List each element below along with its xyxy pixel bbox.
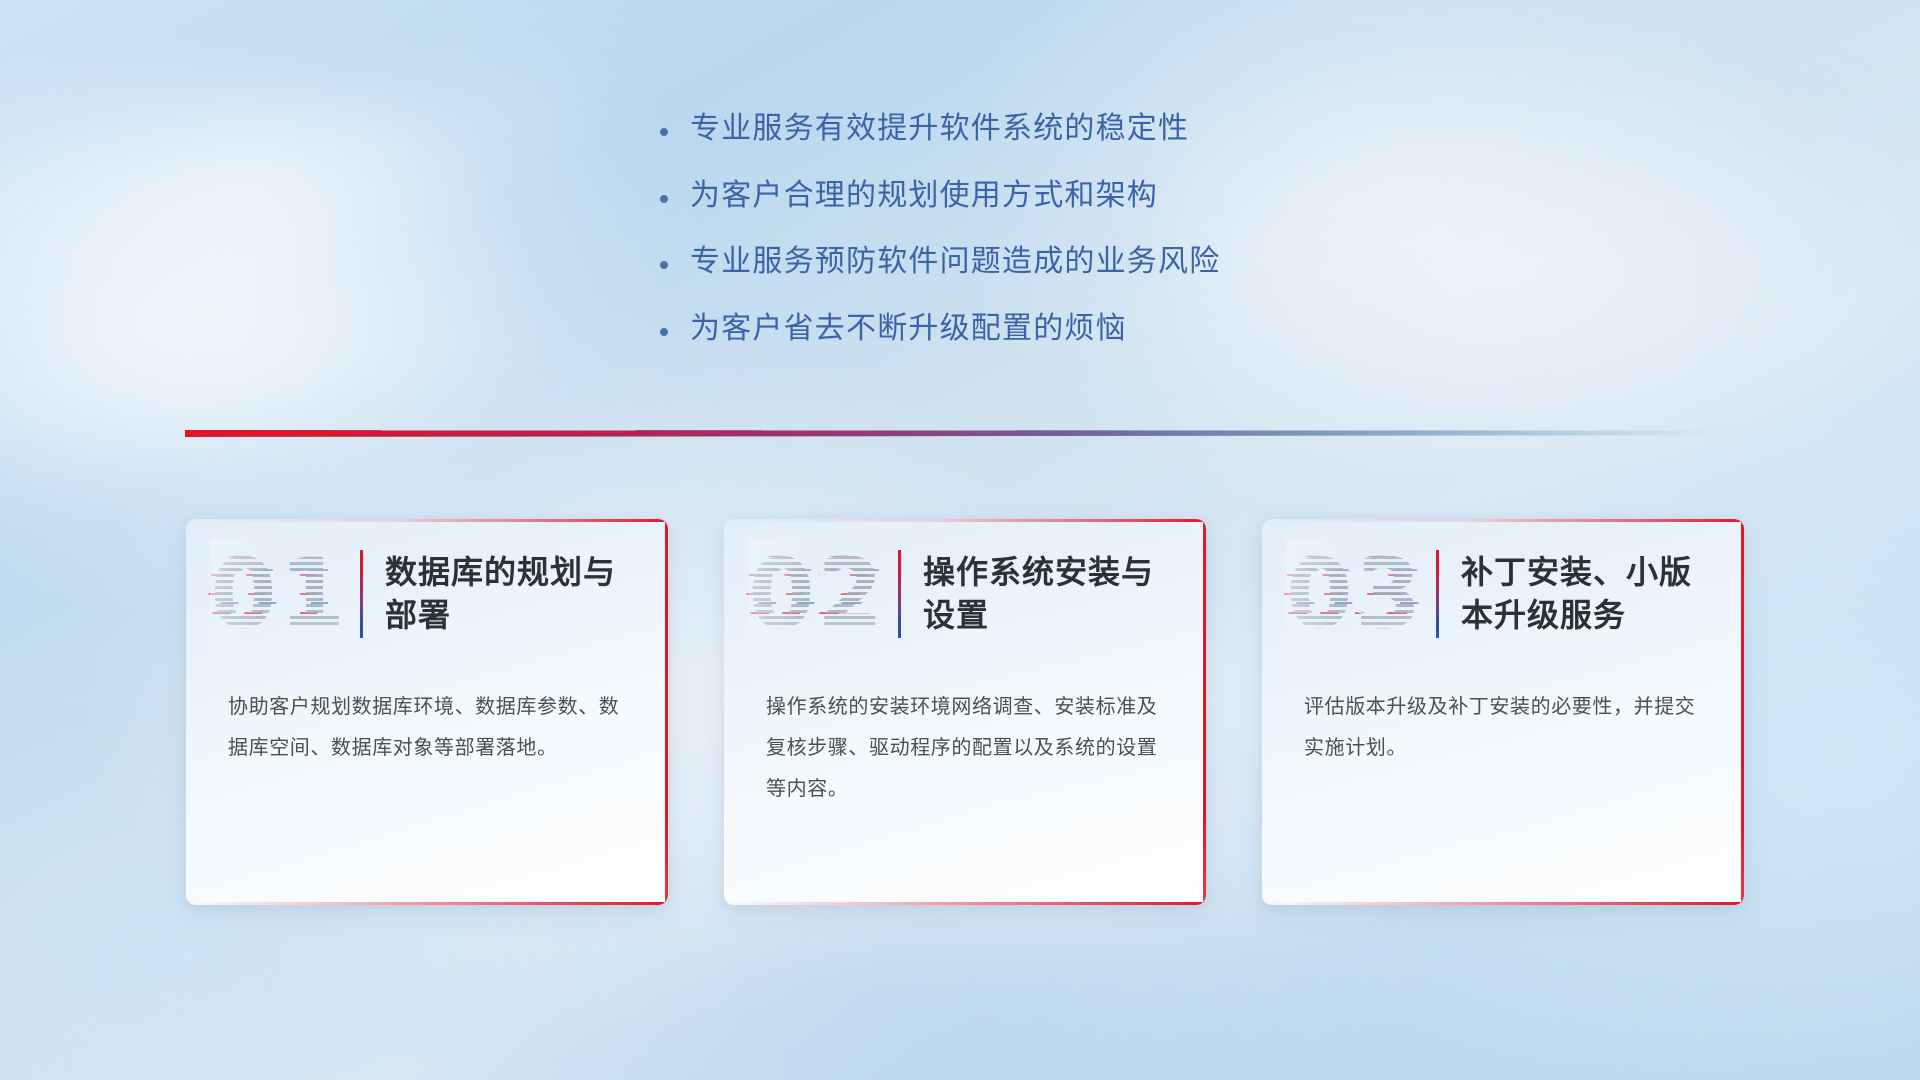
- card-title: 操作系统安装与设置: [923, 551, 1180, 637]
- bullet-item-text: 专业服务预防软件问题造成的业务风险: [690, 243, 1220, 281]
- card-bottom-accent: [1262, 902, 1744, 905]
- benefits-bullet-list: 专业服务有效提升软件系统的稳定性 为客户合理的规划使用方式和架构 专业服务预防软…: [660, 110, 1480, 376]
- card-title: 补丁安装、小版本升级服务: [1461, 551, 1718, 637]
- card-title-accent-bar: [360, 550, 363, 638]
- card-body-text: 操作系统的安装环境网络调查、安装标准及复核步骤、驱动程序的配置以及系统的设置等内…: [724, 669, 1206, 810]
- card-number-glitch: 03 03 03: [1286, 538, 1426, 650]
- slide-canvas: 专业服务有效提升软件系统的稳定性 为客户合理的规划使用方式和架构 专业服务预防软…: [0, 0, 1920, 1080]
- card-title-accent-bar: [1436, 550, 1439, 638]
- bullet-dot-icon: [660, 181, 690, 203]
- divider-gradient-line: [185, 430, 1785, 437]
- service-card-list: 01 01 01 数据库的规划与部署 协助客户规划数据库环境、数据库参数、数据库…: [186, 519, 1746, 905]
- card-header: 02 02 02 操作系统安装与设置: [724, 519, 1206, 669]
- section-divider: [185, 424, 1785, 444]
- card-number-text: 01: [210, 538, 350, 650]
- card-body-text: 评估版本升级及补丁安装的必要性，并提交实施计划。: [1262, 669, 1744, 769]
- service-card[interactable]: 03 03 03 补丁安装、小版本升级服务 评估版本升级及补丁安装的必要性，并提…: [1262, 519, 1744, 905]
- bullet-item-text: 为客户省去不断升级配置的烦恼: [690, 310, 1127, 348]
- card-bottom-accent: [186, 902, 668, 905]
- bullet-dot-icon: [660, 247, 690, 269]
- card-number-glitch: 01 01 01: [210, 538, 350, 650]
- bullet-item: 为客户合理的规划使用方式和架构: [660, 177, 1480, 215]
- bullet-item-text: 专业服务有效提升软件系统的稳定性: [690, 110, 1189, 148]
- bullet-dot-icon: [660, 114, 690, 136]
- bullet-item-text: 为客户合理的规划使用方式和架构: [690, 177, 1158, 215]
- card-header: 01 01 01 数据库的规划与部署: [186, 519, 668, 669]
- bullet-item: 专业服务有效提升软件系统的稳定性: [660, 110, 1480, 148]
- card-number-glitch: 02 02 02: [748, 538, 888, 650]
- card-title: 数据库的规划与部署: [385, 551, 642, 637]
- bullet-item: 为客户省去不断升级配置的烦恼: [660, 310, 1480, 348]
- background-light-streak-left: [0, 62, 659, 477]
- service-card[interactable]: 01 01 01 数据库的规划与部署 协助客户规划数据库环境、数据库参数、数据库…: [186, 519, 668, 905]
- card-number-text: 02: [748, 538, 888, 650]
- card-bottom-accent: [724, 902, 1206, 905]
- card-title-accent-bar: [898, 550, 901, 638]
- card-number-text: 03: [1286, 538, 1426, 650]
- service-card[interactable]: 02 02 02 操作系统安装与设置 操作系统的安装环境网络调查、安装标准及复核…: [724, 519, 1206, 905]
- bullet-item: 专业服务预防软件问题造成的业务风险: [660, 243, 1480, 281]
- card-body-text: 协助客户规划数据库环境、数据库参数、数据库空间、数据库对象等部署落地。: [186, 669, 668, 769]
- card-header: 03 03 03 补丁安装、小版本升级服务: [1262, 519, 1744, 669]
- bullet-dot-icon: [660, 314, 690, 336]
